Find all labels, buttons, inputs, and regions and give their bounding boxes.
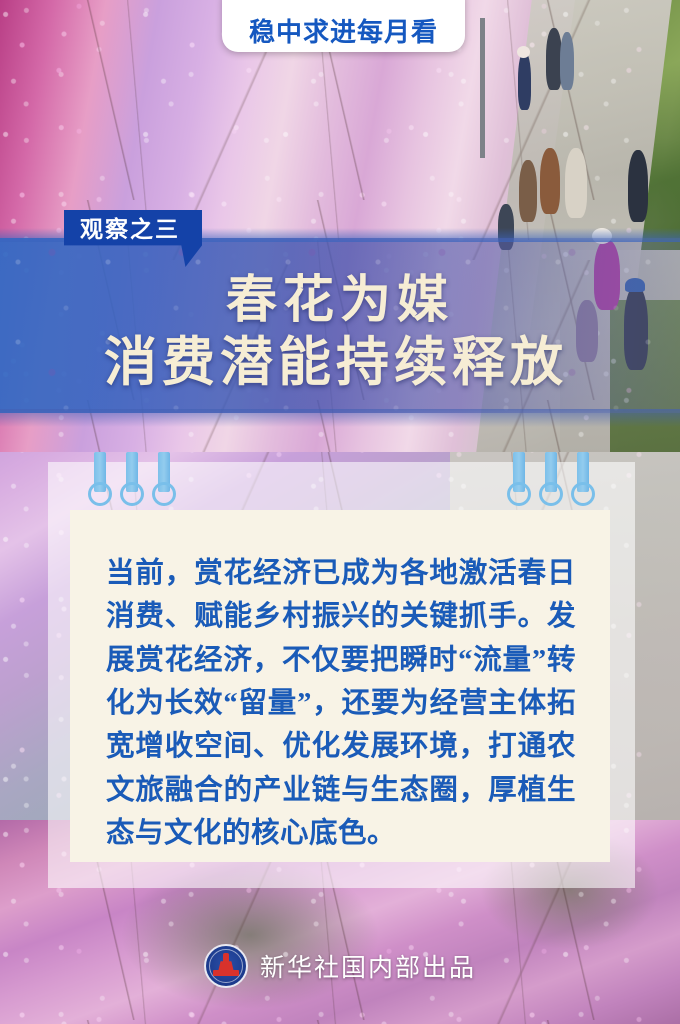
footer-credit-label: 新华社国内部出品 <box>260 948 476 984</box>
binder-ring <box>571 482 595 506</box>
pedestrian <box>628 150 648 222</box>
footer: 新华社国内部出品 <box>0 938 680 994</box>
streetlamp <box>480 18 485 158</box>
pedestrian <box>560 32 574 90</box>
headline-band: 观察之三 春花为媒 消费潜能持续释放 <box>0 238 680 413</box>
headline-line-2: 消费潜能持续释放 <box>104 320 568 396</box>
binder-ring <box>539 482 563 506</box>
binder-ring <box>88 482 112 506</box>
poster-root: 稳中求进每月看 观察之三 春花为媒 消费潜能持续释放 当 <box>0 0 680 1024</box>
pedestrian <box>565 148 587 218</box>
pedestrian <box>540 148 560 214</box>
binder-ring <box>152 482 176 506</box>
content-card-inner: 当前，赏花经济已成为各地激活春日消费、赋能乡村振兴的关键抓手。发展赏花经济，不仅… <box>70 510 610 862</box>
series-title-banner[interactable]: 稳中求进每月看 <box>222 0 465 52</box>
logo-base-glyph <box>213 970 239 976</box>
binder-ring <box>120 482 144 506</box>
xinhua-logo-icon <box>204 944 248 988</box>
binder-ring <box>507 482 531 506</box>
series-title-label: 稳中求进每月看 <box>249 19 438 45</box>
headline-band-fade-bottom <box>0 409 680 427</box>
card-body-text: 当前，赏花经济已成为各地激活春日消费、赋能乡村振兴的关键抓手。发展赏花经济，不仅… <box>106 552 576 855</box>
pedestrian <box>517 46 530 58</box>
pedestrian <box>518 52 531 110</box>
pedestrian <box>519 160 537 222</box>
